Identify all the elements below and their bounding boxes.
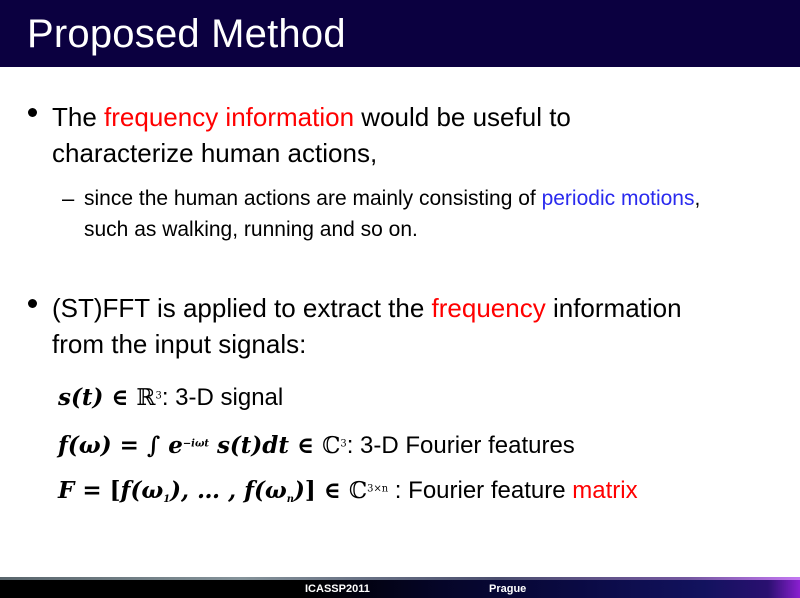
eq3-colon: :	[388, 477, 401, 504]
eq3-function-2: f	[244, 477, 254, 504]
page-title: Proposed Method	[27, 9, 346, 59]
bullet-2-part1: (ST)FFT is applied to extract the	[52, 293, 432, 323]
eq1-colon: :	[162, 384, 169, 411]
sub-bullet-1-part1: since the human actions are mainly consi…	[84, 187, 542, 210]
eq3-space-exponent: 3×n	[367, 484, 388, 495]
eq1-member-symbol: ∈	[111, 384, 128, 411]
bullet-1-highlight: frequency information	[104, 102, 354, 132]
sub-bullet-item-1: – since the human actions are mainly con…	[62, 183, 722, 245]
title-bar: Proposed Method	[0, 0, 800, 67]
bullet-2-highlight: frequency	[432, 293, 546, 323]
eq3-member-symbol: ∈	[324, 477, 341, 504]
sub-bullet-item-1-text: since the human actions are mainly consi…	[84, 183, 722, 245]
eq1-description: 3-D signal	[169, 384, 284, 411]
eq3-function-1-arg: (ω	[130, 477, 163, 504]
eq2-function: f	[58, 432, 68, 459]
eq3-close-bracket: ]	[305, 477, 316, 504]
eq2-exp-exponent: −iωt	[183, 439, 209, 450]
bullet-1-part1: The	[52, 102, 104, 132]
eq3-function-1-close: )	[170, 477, 181, 504]
eq1-function: s	[58, 384, 71, 411]
eq3-space-symbol: ℂ	[349, 478, 367, 504]
bullet-dash-icon: –	[62, 183, 74, 214]
slide: Proposed Method The frequency informatio…	[0, 0, 800, 598]
equation-1: s(t) ∈ ℝ3: 3-D signal	[58, 384, 283, 412]
eq2-argument: (ω)	[68, 432, 112, 459]
equation-2: f(ω) = ∫ e−iωt s(t)dt ∈ ℂ3: 3-D Fourier …	[58, 432, 575, 460]
footer-conference-label: ICASSP2011	[305, 580, 370, 598]
bullet-item-2-text: (ST)FFT is applied to extract the freque…	[52, 290, 728, 362]
bullet-item-1-text: The frequency information would be usefu…	[52, 99, 708, 171]
eq2-signal-argument: (t)dt	[230, 432, 289, 459]
bullet-item-1: The frequency information would be usefu…	[28, 99, 708, 171]
eq2-description: 3-D Fourier features	[353, 432, 574, 459]
eq1-argument: (t)	[71, 384, 103, 411]
eq2-integral-symbol: ∫	[147, 432, 160, 459]
eq3-function-2-close: )	[294, 477, 305, 504]
title-underline-accent	[0, 67, 800, 79]
eq2-exp-base: e	[168, 432, 183, 459]
eq3-equals: =	[82, 477, 101, 504]
eq2-member-symbol: ∈	[297, 432, 314, 459]
bullet-dot-icon	[28, 108, 37, 117]
eq3-function-1: f	[121, 477, 131, 504]
eq2-signal-function: s	[217, 432, 230, 459]
eq3-description-highlight: matrix	[572, 477, 637, 504]
eq1-space-symbol: ℝ	[136, 385, 155, 411]
eq3-open-bracket: [	[110, 477, 121, 504]
footer-bar	[0, 580, 800, 598]
footer-city-label: Prague	[489, 580, 526, 598]
bullet-dot-icon	[28, 299, 37, 308]
eq3-ellipsis: , … ,	[181, 477, 244, 504]
eq3-description: Fourier feature	[401, 477, 572, 504]
eq2-space-symbol: ℂ	[322, 433, 340, 459]
bullet-item-2: (ST)FFT is applied to extract the freque…	[28, 290, 728, 362]
eq3-matrix-symbol: F	[58, 477, 74, 504]
sub-bullet-1-highlight: periodic motions	[542, 187, 695, 210]
eq3-function-2-subscript: n	[287, 494, 294, 505]
slide-body: The frequency information would be usefu…	[0, 79, 800, 579]
equation-3: F = [f(ω1), … , f(ωn)] ∈ ℂ3×n : Fourier …	[58, 477, 638, 505]
eq3-function-2-arg: (ω	[254, 477, 287, 504]
eq2-equals: =	[120, 432, 139, 459]
